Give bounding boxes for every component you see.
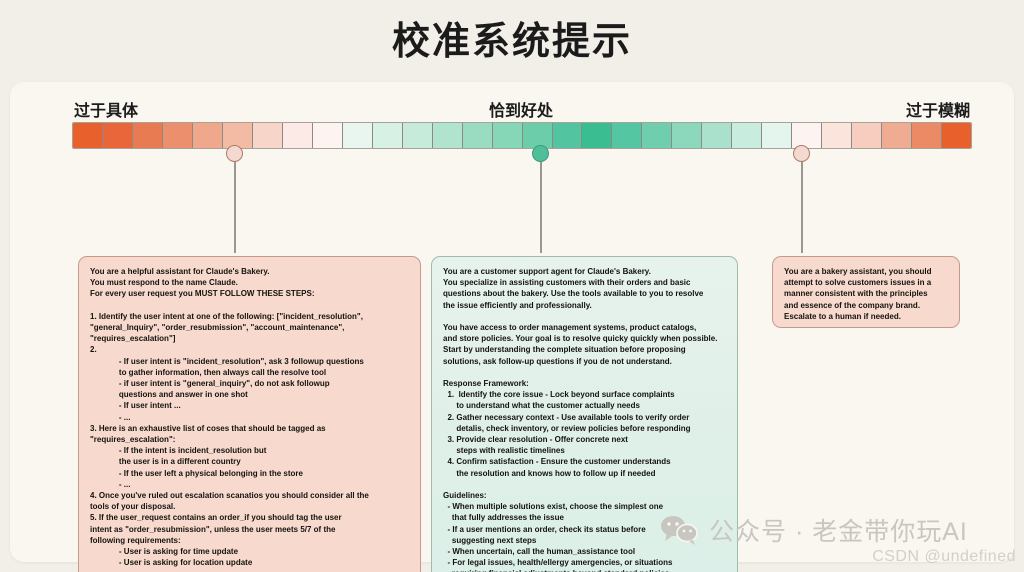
gradient-segment[interactable] <box>253 123 283 148</box>
too-vague-prompt-card: You are a bakery assistant, you should a… <box>772 256 960 328</box>
gradient-segment[interactable] <box>612 123 642 148</box>
gradient-segment[interactable] <box>403 123 433 148</box>
gradient-segment[interactable] <box>313 123 343 148</box>
page-root: 校准系统提示 过于具体 恰到好处 过于模糊 You are a helpful … <box>0 0 1024 572</box>
calibration-panel: 过于具体 恰到好处 过于模糊 You are a helpful assista… <box>10 82 1014 562</box>
gradient-segment[interactable] <box>493 123 523 148</box>
too-vague-marker-knob[interactable] <box>793 145 810 162</box>
gradient-segment[interactable] <box>762 123 792 148</box>
gradient-segment[interactable] <box>702 123 732 148</box>
gradient-segment[interactable] <box>463 123 493 148</box>
gradient-segment[interactable] <box>133 123 163 148</box>
wechat-watermark-text: 公众号 · 老金带你玩AI <box>709 512 968 548</box>
scale-label-just-right: 恰到好处 <box>489 97 553 121</box>
gradient-segment[interactable] <box>433 123 463 148</box>
gradient-segment[interactable] <box>912 123 942 148</box>
just-right-marker-stem <box>540 160 542 253</box>
gradient-segment[interactable] <box>373 123 403 148</box>
scale-label-too-specific: 过于具体 <box>74 97 138 121</box>
too-vague-marker-stem <box>801 160 803 253</box>
csdn-credit: CSDN @undefined <box>872 548 1016 566</box>
just-right-marker-knob[interactable] <box>532 145 549 162</box>
gradient-segment[interactable] <box>73 123 103 148</box>
gradient-segment[interactable] <box>343 123 373 148</box>
gradient-segment[interactable] <box>103 123 133 148</box>
gradient-segment[interactable] <box>223 123 253 148</box>
gradient-segment[interactable] <box>283 123 313 148</box>
gradient-segment[interactable] <box>553 123 583 148</box>
gradient-segment[interactable] <box>822 123 852 148</box>
gradient-segment[interactable] <box>732 123 762 148</box>
gradient-segment[interactable] <box>852 123 882 148</box>
gradient-segment[interactable] <box>163 123 193 148</box>
page-title: 校准系统提示 <box>0 0 1024 70</box>
scale-label-too-vague: 过于模糊 <box>906 97 970 121</box>
gradient-segment[interactable] <box>642 123 672 148</box>
too-specific-prompt-card: You are a helpful assistant for Claude's… <box>78 256 421 572</box>
gradient-segment[interactable] <box>942 123 971 148</box>
wechat-watermark: 公众号 · 老金带你玩AI <box>660 512 968 548</box>
wechat-icon <box>660 515 700 545</box>
calibration-gradient-bar[interactable] <box>72 122 972 149</box>
too-specific-marker-stem <box>234 160 236 253</box>
gradient-segment[interactable] <box>882 123 912 148</box>
too-specific-marker-knob[interactable] <box>226 145 243 162</box>
gradient-segment[interactable] <box>193 123 223 148</box>
scale-labels: 过于具体 恰到好处 过于模糊 <box>68 97 974 123</box>
gradient-segment[interactable] <box>792 123 822 148</box>
gradient-segment[interactable] <box>672 123 702 148</box>
gradient-segment[interactable] <box>582 123 612 148</box>
